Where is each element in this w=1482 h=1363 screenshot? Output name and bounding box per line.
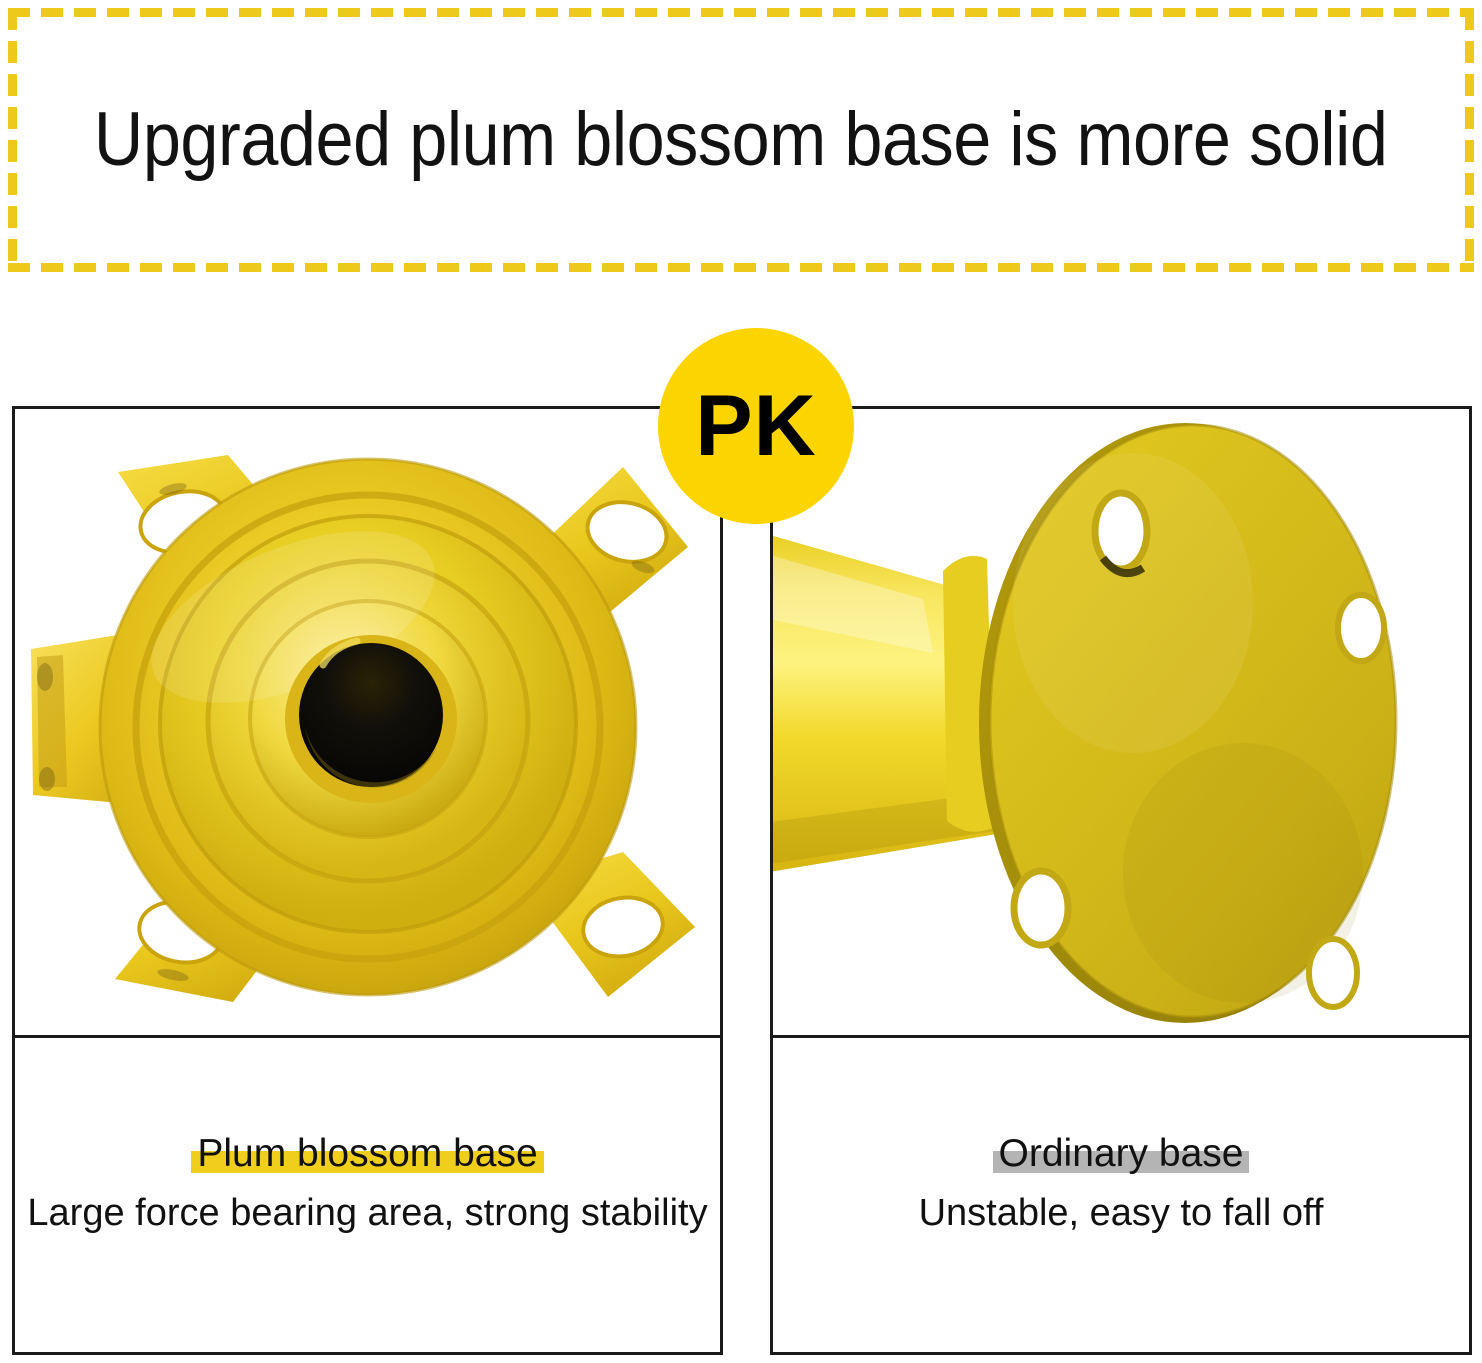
pk-badge-label: PK: [695, 383, 816, 469]
support-tube: [773, 533, 1003, 873]
comparison-panel-ordinary: Ordinary base Unstable, easy to fall off: [770, 406, 1472, 1355]
caption-desc-ordinary: Unstable, easy to fall off: [919, 1193, 1324, 1235]
caption-desc-plum: Large force bearing area, strong stabili…: [27, 1193, 707, 1235]
center-bore: [285, 635, 457, 803]
page-title: Upgraded plum blossom base is more solid: [8, 102, 1474, 178]
dashed-border-top: [8, 8, 1474, 17]
product-image-plum-blossom: [15, 409, 720, 1035]
plum-blossom-base-illustration: [23, 427, 713, 1027]
caption-block-ordinary: Ordinary base Unstable, easy to fall off: [773, 1038, 1469, 1352]
dashed-border-bottom: [8, 263, 1474, 272]
caption-title-ordinary: Ordinary base: [999, 1132, 1244, 1175]
caption-block-plum-blossom: Plum blossom base Large force bearing ar…: [15, 1038, 720, 1352]
caption-title-wrap-plum: Plum blossom base: [197, 1134, 537, 1175]
pk-badge: PK: [658, 328, 854, 524]
page-title-text: Upgraded plum blossom base is more solid: [94, 102, 1388, 178]
caption-title-wrap-ordinary: Ordinary base: [999, 1134, 1244, 1175]
ordinary-base-illustration: [773, 409, 1469, 1035]
comparison-panel-plum-blossom: Plum blossom base Large force bearing ar…: [12, 406, 723, 1355]
product-image-ordinary: [773, 409, 1469, 1035]
title-banner: Upgraded plum blossom base is more solid: [8, 8, 1474, 272]
caption-title-plum: Plum blossom base: [197, 1132, 537, 1175]
